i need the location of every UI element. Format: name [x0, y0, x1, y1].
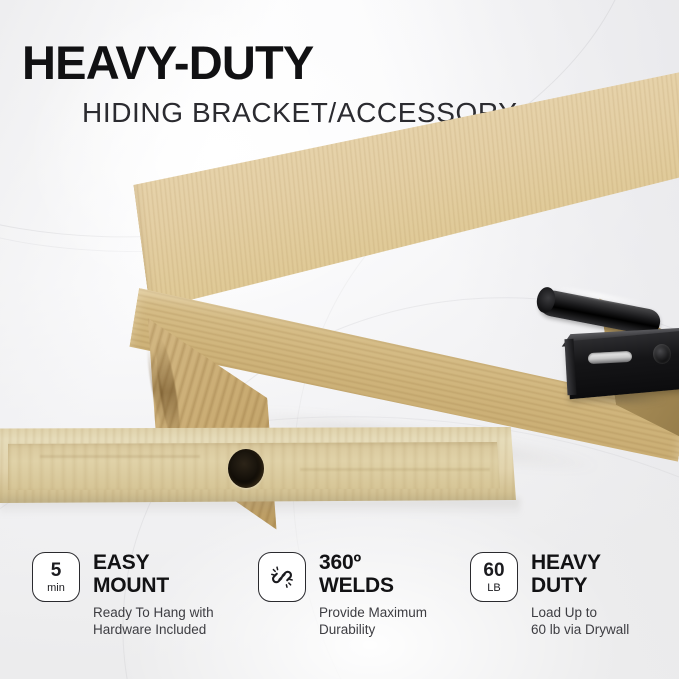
feature-description: Provide Maximum Durability [319, 604, 427, 638]
badge-weld-icon [258, 552, 306, 602]
feature-title: 360º WELDS [319, 552, 427, 597]
feature-row: 5 min EASY MOUNT Ready To Hang with Hard… [0, 552, 679, 638]
feature-title: HEAVY DUTY [531, 552, 629, 597]
bracket-mounting-plate [567, 331, 679, 400]
feature-heavy-duty: 60 LB HEAVY DUTY Load Up to 60 lb via Dr… [470, 552, 670, 638]
feature-description: Load Up to 60 lb via Drywall [531, 604, 629, 638]
badge-unit: LB [487, 583, 500, 594]
feature-text: EASY MOUNT Ready To Hang with Hardware I… [93, 552, 214, 638]
product-infographic: HEAVY-DUTY HIDING BRACKET/ACCESSORY [0, 0, 679, 679]
underside-grain-line-1 [40, 455, 200, 458]
badge-unit: min [47, 583, 65, 594]
badge-60-lb: 60 LB [470, 552, 518, 602]
underside-grain-line-2 [300, 468, 490, 471]
page-title: HEAVY-DUTY [22, 39, 313, 86]
feature-title: EASY MOUNT [93, 552, 214, 597]
underside-board-shadow [0, 498, 520, 516]
feature-easy-mount: 5 min EASY MOUNT Ready To Hang with Hard… [32, 552, 248, 638]
feature-text: HEAVY DUTY Load Up to 60 lb via Drywall [531, 552, 629, 638]
chain-weld-icon [269, 564, 295, 590]
badge-value: 60 [483, 561, 504, 580]
feature-text: 360º WELDS Provide Maximum Durability [319, 552, 427, 638]
drilled-rod-hole [228, 449, 264, 488]
feature-360-welds: 360º WELDS Provide Maximum Durability [258, 552, 458, 638]
badge-5-min: 5 min [32, 552, 80, 602]
badge-value: 5 [51, 561, 62, 580]
feature-description: Ready To Hang with Hardware Included [93, 604, 214, 638]
